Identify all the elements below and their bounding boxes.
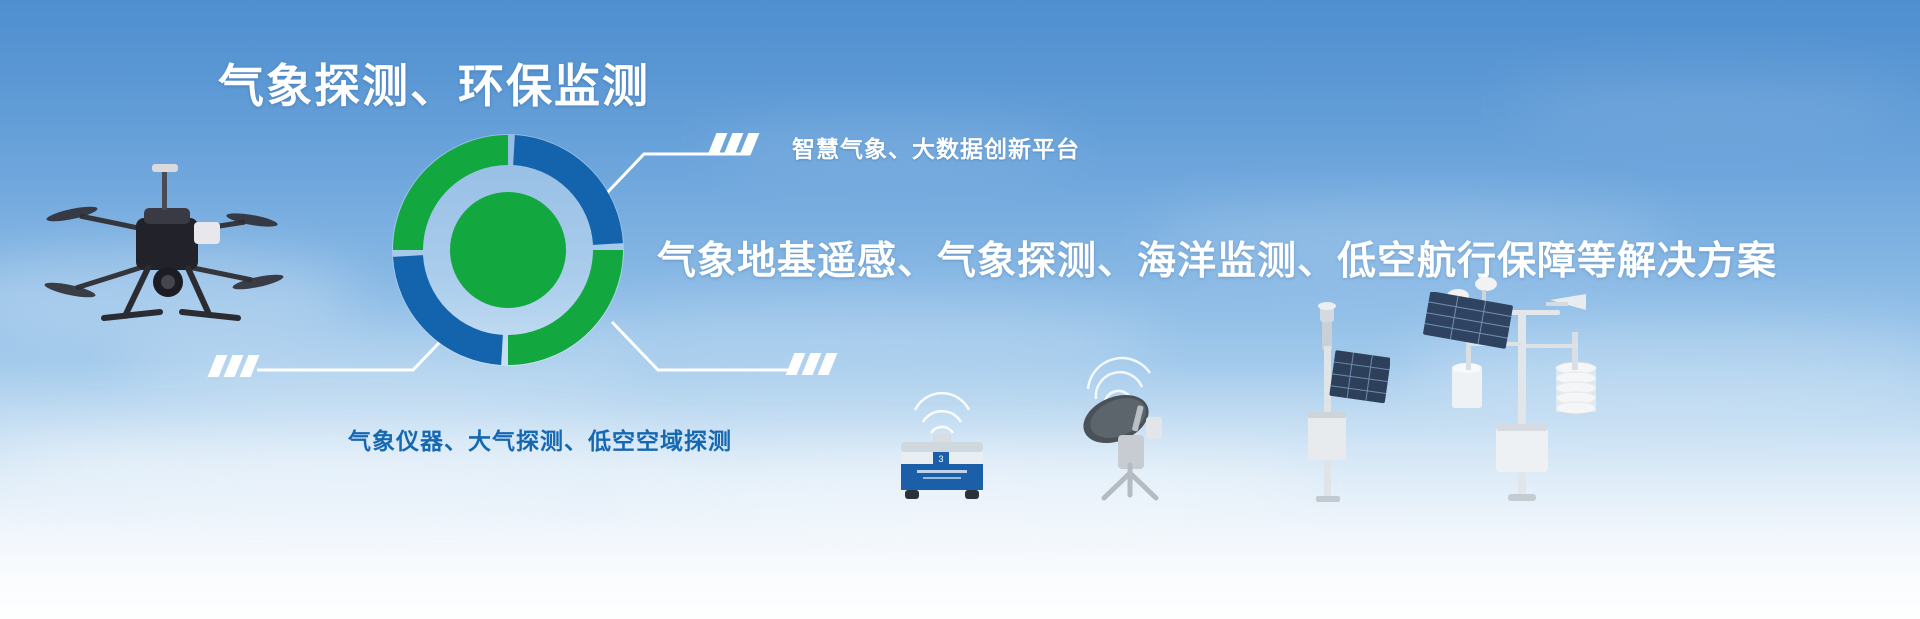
slash-mark [240,355,260,377]
slash-marks-top-right [712,133,755,155]
cloud-decoration [1500,70,1920,130]
slash-mark [818,353,838,375]
svg-text:3: 3 [938,454,943,464]
wind-lidar-unit-photo: 3 [893,390,991,500]
page-title: 气象探测、环保监测 [218,50,650,116]
slash-marks-bottom-left [212,355,255,377]
slash-marks-bottom-right [790,353,833,375]
label-smart-meteorology: 智慧气象、大数据创新平台 [792,130,1080,164]
label-meteorological-instruments: 气象仪器、大气探测、低空空域探测 [348,422,732,456]
parabolic-antenna-photo [1072,355,1187,500]
cloud-decoration [560,300,1160,380]
slash-mark [740,133,760,155]
solar-monitoring-station-photo [1278,300,1388,500]
solar-monitoring-station-photo [1418,292,1518,352]
hero-banner: 气象探测、环保监测 智慧气象、大数据创新平台 气象仪器、大气探测、低空空域探测 … [0,0,1920,619]
ring-logo [390,132,626,368]
uav-drone-photo [40,160,290,345]
